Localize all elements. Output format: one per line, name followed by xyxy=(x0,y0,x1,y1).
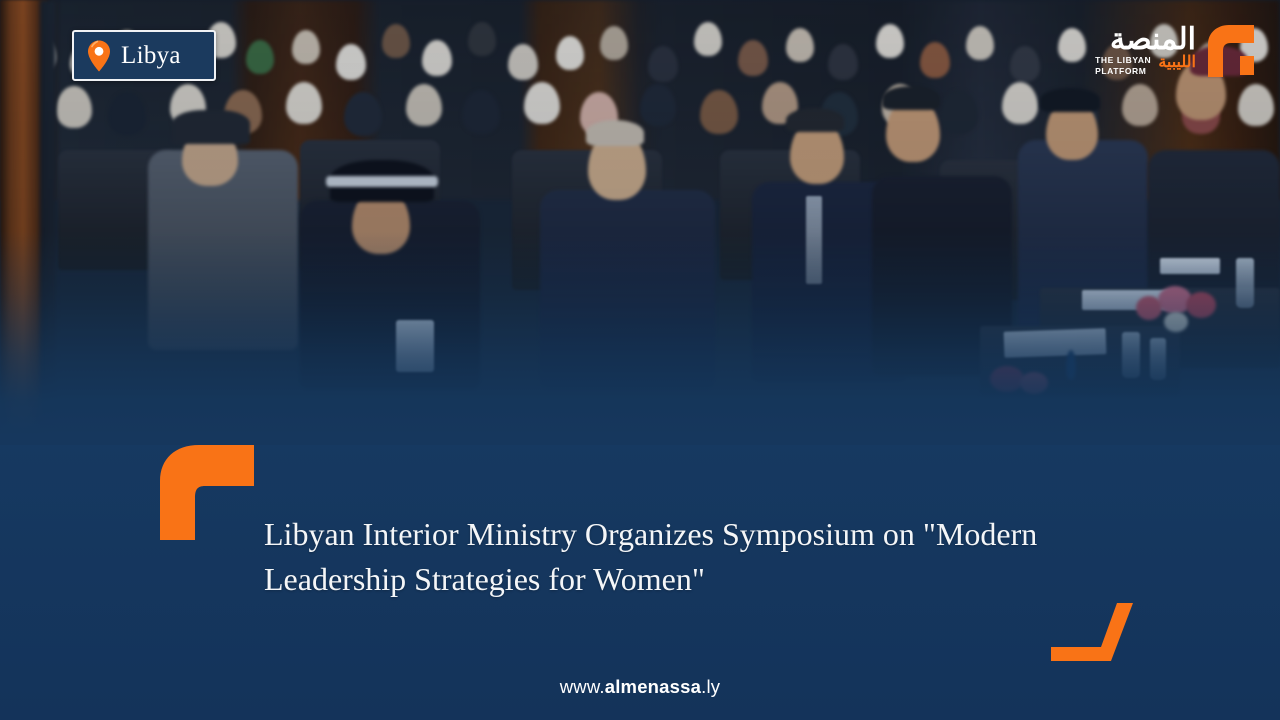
decorative-bracket-top xyxy=(155,443,259,540)
brand-logo-text: المنصة THE LIBYAN PLATFORM الليبية xyxy=(1095,26,1196,76)
brand-name-arabic: المنصة xyxy=(1095,26,1196,55)
location-badge-label: Libya xyxy=(121,43,181,68)
brand-english-line1: THE LIBYAN xyxy=(1095,55,1151,65)
headline-text: Libyan Interior Ministry Organizes Sympo… xyxy=(264,512,1094,603)
news-card: Libya المنصة THE LIBYAN PLATFORM الليبية… xyxy=(0,0,1280,720)
url-domain: almenassa xyxy=(605,676,701,697)
brand-mark-icon xyxy=(1200,22,1262,80)
url-tld: .ly xyxy=(701,676,720,697)
brand-logo: المنصة THE LIBYAN PLATFORM الليبية xyxy=(1095,22,1262,80)
url-prefix: www. xyxy=(560,676,605,697)
brand-english-line2: PLATFORM xyxy=(1095,66,1151,76)
location-badge: Libya xyxy=(72,30,216,81)
brand-logo-subrow: THE LIBYAN PLATFORM الليبية xyxy=(1095,55,1196,76)
decorative-bracket-bottom xyxy=(1049,601,1138,663)
brand-name-english: THE LIBYAN PLATFORM xyxy=(1095,55,1151,76)
map-pin-icon xyxy=(86,39,112,73)
footer-website-url: www.almenassa.ly xyxy=(0,676,1280,698)
brand-subname-arabic: الليبية xyxy=(1158,55,1196,71)
